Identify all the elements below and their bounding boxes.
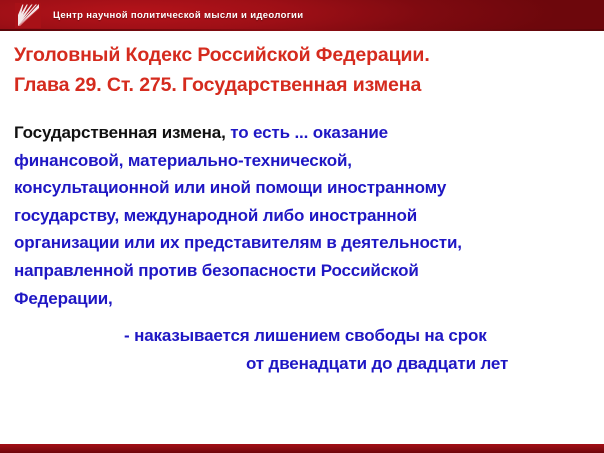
body-line-2: финансовой, материально-технической, [14, 147, 590, 175]
slide-header-bar: Центр научной политической мысли и идеол… [0, 0, 604, 31]
slide-content: Уголовный Кодекс Российской Федерации. Г… [0, 31, 604, 453]
body-line-1: Государственная измена, то есть ... оказ… [14, 119, 590, 147]
body-line-3: консультационной или иной помощи иностра… [14, 174, 590, 202]
body-line-6: направленной против безопасности Российс… [14, 257, 590, 285]
fan-rays-logo-icon [15, 3, 41, 28]
slide-body: Государственная измена, то есть ... оказ… [14, 119, 590, 377]
slide-footer-bar [0, 444, 604, 453]
body-emphasis-text: Государственная измена, [14, 123, 226, 142]
slide-title: Уголовный Кодекс Российской Федерации. Г… [14, 31, 590, 100]
presentation-slide: Центр научной политической мысли и идеол… [0, 0, 604, 453]
body-line-5: организации или их представителям в деят… [14, 229, 590, 257]
penalty-line-1: - наказывается лишением свободы на срок [14, 322, 590, 350]
body-line-4: государству, международной либо иностран… [14, 202, 590, 230]
penalty-line-2: от двенадцати до двадцати лет [14, 350, 590, 378]
body-line-1-rest: то есть ... оказание [226, 123, 388, 142]
title-line-1: Уголовный Кодекс Российской Федерации. [14, 40, 590, 70]
body-line-7: Федерации, [14, 285, 590, 313]
organization-name: Центр научной политической мысли и идеол… [53, 10, 303, 21]
title-line-2: Глава 29. Ст. 275. Государственная измен… [14, 70, 590, 100]
